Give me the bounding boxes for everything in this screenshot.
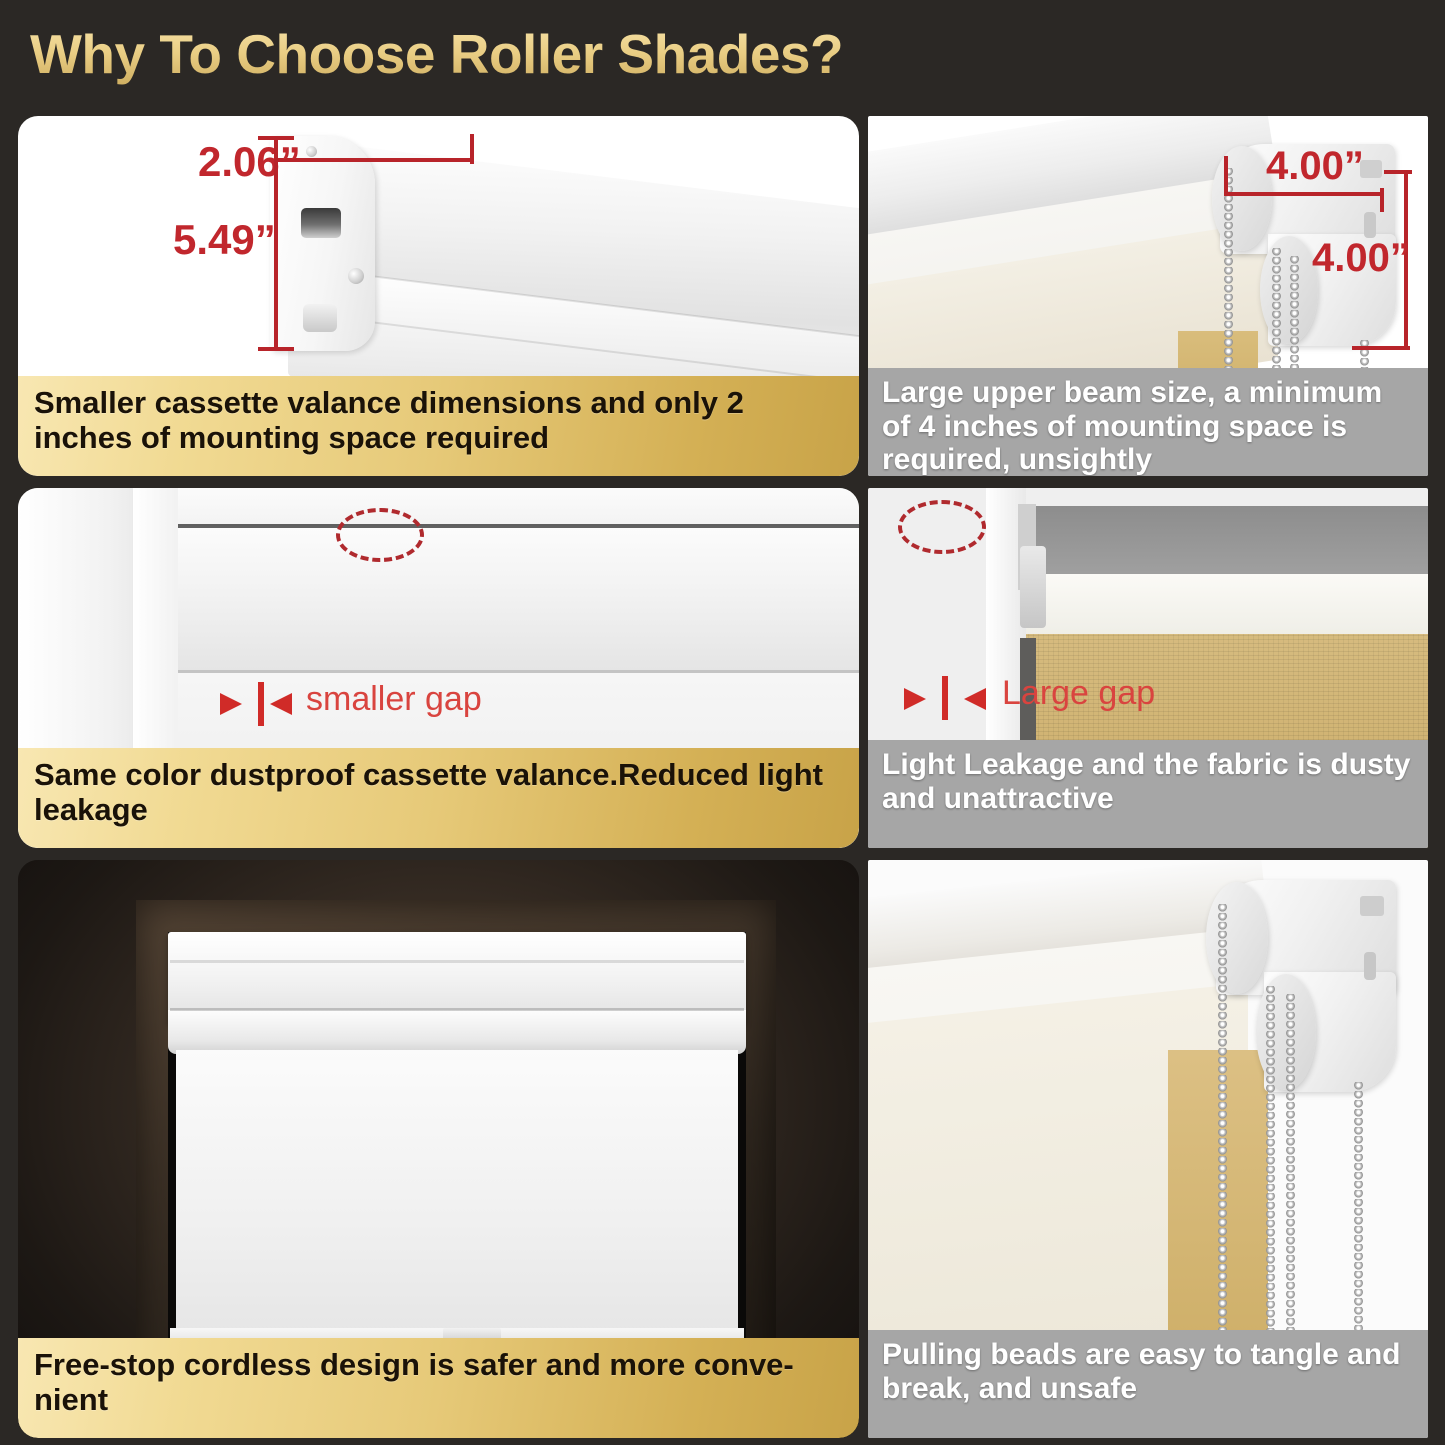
- bracket-disc-lower: [1260, 236, 1318, 344]
- shade-fabric: [176, 1050, 738, 1335]
- panel-light-leakage: Large gap Light Leakage and the fabric i…: [868, 488, 1428, 848]
- caption-panel-5: Free-stop cordless design is safer and m…: [18, 1338, 859, 1438]
- fabric-white-band: [1018, 574, 1428, 636]
- gap-label: Large gap: [1002, 674, 1155, 713]
- upper-beam-shadow: [1018, 506, 1428, 584]
- dim-width-label: 2.06”: [198, 138, 301, 186]
- dim-height-label: 5.49”: [173, 216, 276, 264]
- gap-arrow-right: [270, 693, 292, 715]
- dim-width-label: 4.00”: [1266, 144, 1364, 189]
- highlight-ellipse: [336, 508, 424, 562]
- bead-chain-1: [1218, 904, 1227, 1404]
- gap-arrow-left: [904, 688, 926, 710]
- gap-arrow-right: [964, 688, 986, 710]
- dim-width-line: [274, 158, 474, 162]
- panel-cordless-design: Free-stop cordless design is safer and m…: [18, 860, 859, 1438]
- highlight-ellipse: [898, 500, 986, 554]
- gap-arrow-left: [220, 693, 242, 715]
- bracket-disc-upper: [1206, 882, 1268, 994]
- caption-panel-2: Large upper beam size, a minimum of 4 in…: [868, 368, 1428, 476]
- gap-marker: [942, 676, 948, 720]
- caption-panel-1: Smaller cassette valance dimensions and …: [18, 376, 859, 476]
- page-title: Why To Choose Roller Shades?: [30, 22, 1030, 92]
- gap-marker: [258, 682, 264, 726]
- panel-pulling-beads: Pulling beads are easy to tangle and bre…: [868, 860, 1428, 1438]
- caption-panel-6: Pulling beads are easy to tangle and bre…: [868, 1330, 1428, 1438]
- comparison-grid: 2.06” 5.49” Smaller cassette valance dim…: [0, 108, 1445, 1445]
- gap-label: smaller gap: [306, 680, 482, 719]
- caption-panel-4: Light Leakage and the fabric is dusty an…: [868, 740, 1428, 848]
- panel-dustproof-valance: smaller gap Same color dustproof cassett…: [18, 488, 859, 848]
- dim-height-label: 4.00”: [1312, 236, 1410, 281]
- mount-knob: [303, 304, 337, 332]
- dim-width-line: [1226, 192, 1384, 196]
- cassette-valance: [178, 526, 859, 676]
- bead-chain-2: [1272, 248, 1281, 370]
- valance-roll: [168, 1010, 746, 1054]
- bracket-disc-upper: [1212, 146, 1272, 251]
- bead-chain-3: [1290, 256, 1299, 371]
- cord-slot: [301, 208, 341, 238]
- panel-large-beam: 4.00” 4.00” Large upper beam size, a min…: [868, 116, 1428, 476]
- panel-smaller-cassette: 2.06” 5.49” Smaller cassette valance dim…: [18, 116, 859, 476]
- bead-chain-1: [1224, 168, 1233, 368]
- caption-panel-3: Same color dustproof cassette valance.Re…: [18, 748, 859, 848]
- infographic-root: Why To Choose Roller Shades? 2.06”: [0, 0, 1445, 1445]
